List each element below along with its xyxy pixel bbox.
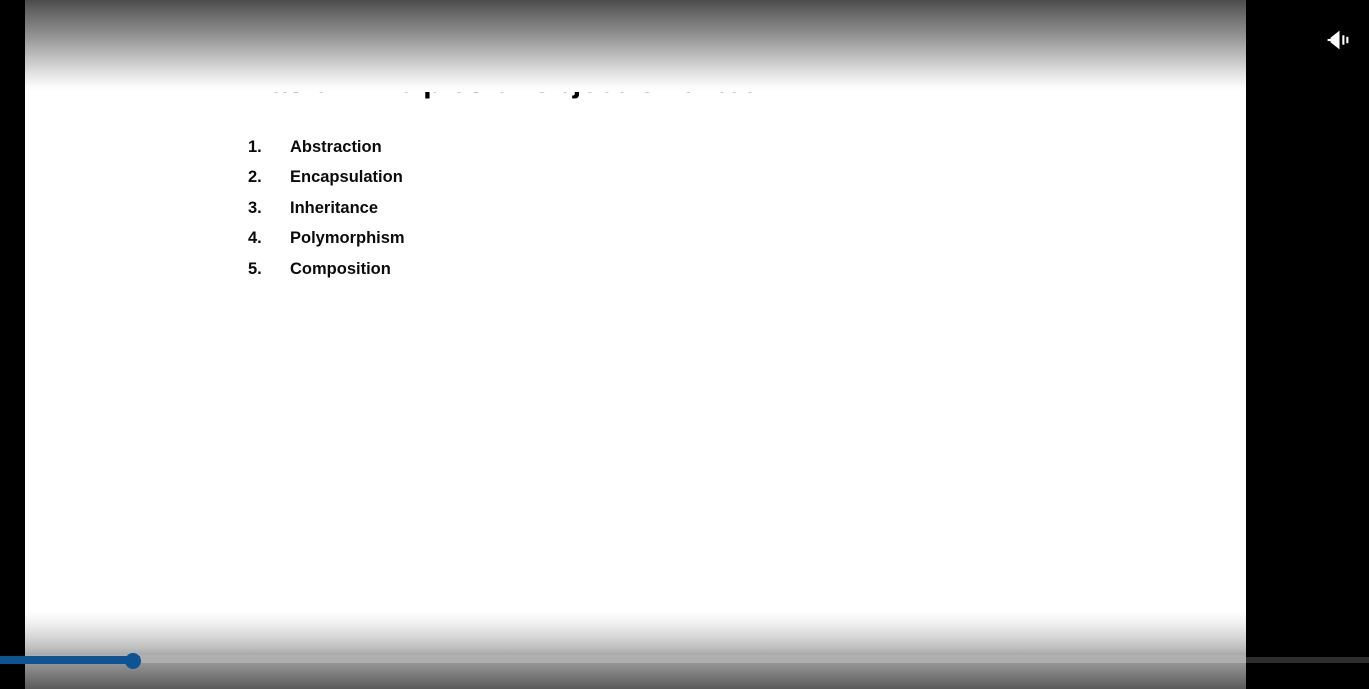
- list-item-label: Composition: [290, 260, 391, 279]
- list-item-label: Inheritance: [290, 199, 378, 218]
- list-item: 3. Inheritance: [248, 199, 405, 229]
- seek-track[interactable]: [0, 657, 1369, 663]
- slide-title: Basic Principles of Object-Oriented: [248, 64, 761, 100]
- volume-up-icon: [1325, 29, 1351, 51]
- volume-button[interactable]: [1323, 27, 1353, 53]
- video-player: Basic Principles of Object-Oriented 1. A…: [0, 0, 1369, 689]
- list-item-number: 2.: [248, 168, 290, 187]
- list-item-label: Encapsulation: [290, 168, 403, 187]
- letterbox-right: [1246, 0, 1369, 689]
- letterbox-left: [0, 0, 25, 689]
- seek-track-letterbox: [1246, 657, 1369, 663]
- slide-content: Basic Principles of Object-Oriented 1. A…: [25, 0, 1246, 689]
- list-item-label: Abstraction: [290, 138, 382, 157]
- slide-stage: Basic Principles of Object-Oriented 1. A…: [25, 0, 1246, 689]
- list-item-label: Polymorphism: [290, 229, 405, 248]
- slide-page-number: 5: [222, 623, 1246, 637]
- seek-thumb[interactable]: [125, 653, 141, 669]
- list-item: 4. Polymorphism: [248, 229, 405, 259]
- list-item-number: 3.: [248, 199, 290, 218]
- list-item-number: 5.: [248, 260, 290, 279]
- list-item: 1. Abstraction: [248, 138, 405, 168]
- seek-bar[interactable]: [0, 654, 1369, 666]
- principles-list: 1. Abstraction 2. Encapsulation 3. Inher…: [248, 138, 405, 290]
- list-item: 2. Encapsulation: [248, 168, 405, 198]
- list-item-number: 4.: [248, 229, 290, 248]
- list-item: 5. Composition: [248, 260, 405, 290]
- list-item-number: 1.: [248, 138, 290, 157]
- seek-progress-fill: [0, 656, 140, 664]
